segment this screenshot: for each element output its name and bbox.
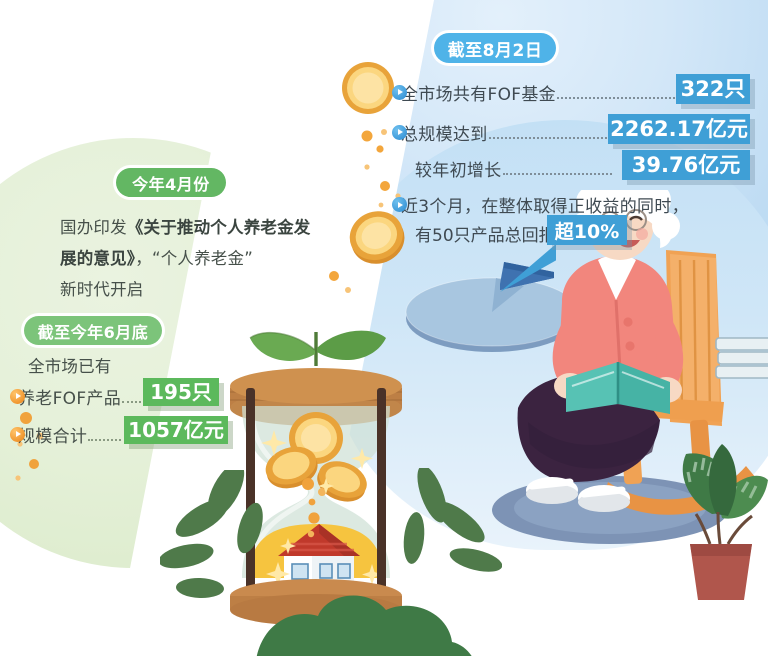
left-row-0-label: 养老FOF产品 (18, 384, 121, 409)
left-row-0: 养老FOF产品 (10, 383, 144, 409)
right-row-0-value: 322只 (676, 74, 750, 104)
left-row-1-label: 规模合计 (18, 422, 87, 447)
right-note-line2-text: 有50只产品总回报 (415, 221, 556, 246)
right-row-2-label: 较年初增长 (415, 156, 502, 181)
policy-after: ，“个人养老金” (135, 249, 253, 268)
right-row-2: 较年初增长 (415, 155, 615, 181)
monstera-potted-plant (660, 428, 768, 618)
bullet-play-icon (10, 389, 25, 404)
left-row-1-value: 1057亿元 (124, 416, 228, 444)
bush-foreground (256, 584, 476, 656)
stacked-books (716, 338, 768, 378)
left-row-0-value: 195只 (143, 378, 219, 406)
policy-line3: 新时代开启 (60, 280, 144, 299)
monstera-leaves (683, 444, 768, 544)
bullet-play-icon (392, 85, 407, 100)
leader-dots (489, 126, 612, 139)
right-panel-date-pill: 截至8月2日 (434, 33, 556, 63)
left-panel-section-pill: 截至今年6月底 (24, 316, 162, 345)
left-panel-date-pill: 今年4月份 (116, 168, 226, 197)
leader-dots (122, 390, 141, 403)
right-row-1-value: 2262.17亿元 (608, 114, 750, 144)
right-row-0-label: 全市场共有FOF基金 (401, 80, 556, 105)
right-row-2-value: 39.76亿元 (622, 150, 750, 180)
leader-dots (503, 162, 613, 175)
sprout-icon (250, 331, 386, 366)
bullet-play-icon (10, 427, 25, 442)
highlight-badge-over-10-percent: 超10% (547, 215, 627, 245)
right-row-0: 全市场共有FOF基金 (392, 79, 722, 105)
infographic-canvas: 截至8月2日 全市场共有FOF基金 322只 总规模达到 2262.17亿元 较… (0, 0, 768, 656)
right-row-1: 总规模达到 (392, 119, 614, 145)
leader-dots (88, 428, 121, 441)
policy-paragraph: 国办印发《关于推动个人养老金发展的意见》，“个人养老金” 新时代开启 (60, 212, 320, 305)
right-note-line1: 近3个月，在整体取得正收益的同时， (392, 192, 689, 217)
bullet-play-icon (392, 197, 407, 212)
right-row-1-label: 总规模达到 (401, 120, 488, 145)
left-row-1: 规模合计 (10, 421, 124, 447)
right-note-line1-text: 近3个月，在整体取得正收益的同时， (401, 192, 689, 217)
green-area-dots (0, 402, 70, 492)
policy-lead: 国办印发 (60, 218, 127, 237)
hourglass-post-right (377, 388, 386, 600)
bullet-play-icon (392, 125, 407, 140)
left-section-intro: 全市场已有 (28, 353, 112, 377)
